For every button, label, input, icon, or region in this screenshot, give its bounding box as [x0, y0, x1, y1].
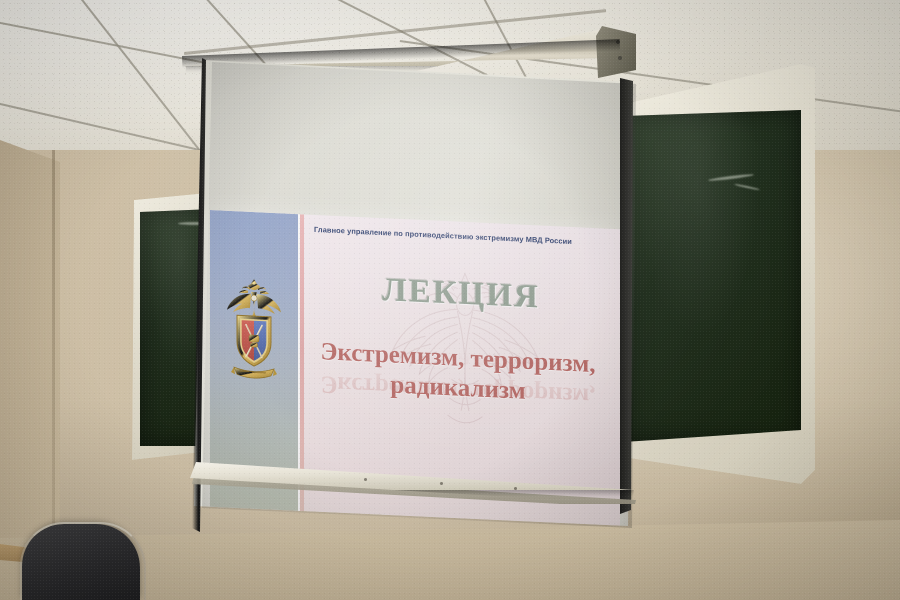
slide-subtitle: Экстремизм, терроризм, радикализм: [298, 336, 618, 410]
screenshot-scene: Главное управление по противодействию эк…: [0, 0, 900, 600]
blackboard-surface: [624, 110, 801, 442]
slide-canvas: Главное управление по противодействию эк…: [210, 210, 620, 559]
screen-fabric: Главное управление по противодействию эк…: [180, 60, 632, 530]
slide-title: ЛЕКЦИЯ: [306, 269, 616, 321]
mvd-emblem-icon: [224, 273, 284, 381]
slide-header-text: Главное управление по противодействию эк…: [314, 225, 614, 248]
screen-wall-bracket: [596, 26, 636, 78]
office-chair-highlight: [20, 522, 146, 600]
projected-slide: Главное управление по противодействию эк…: [210, 210, 620, 574]
projection-screen[interactable]: Главное управление по противодействию эк…: [178, 22, 648, 534]
screen-right-edge: [620, 78, 633, 514]
